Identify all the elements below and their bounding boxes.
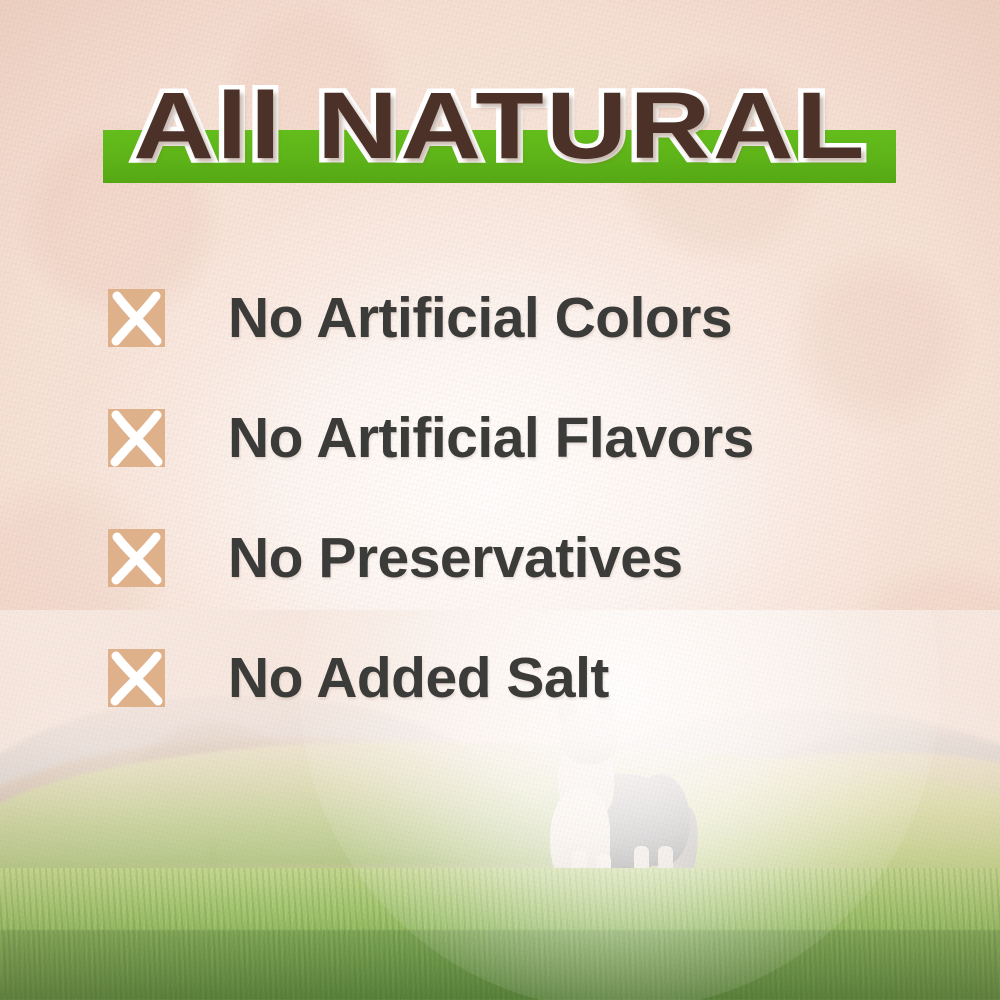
x-mark-icon	[108, 649, 165, 707]
claims-list: No Artificial Colors No Artificial Flavo…	[108, 258, 968, 738]
all-natural-product-badge: All NATURAL No Artificial Colors No Arti…	[0, 0, 1000, 1000]
x-mark-checkbox	[108, 529, 165, 587]
list-item: No Artificial Flavors	[108, 378, 968, 498]
list-item-label: No Artificial Colors	[228, 289, 732, 347]
list-item-label: No Added Salt	[228, 649, 609, 707]
x-mark-checkbox	[108, 409, 165, 467]
list-item-label: No Artificial Flavors	[228, 409, 754, 467]
list-item: No Added Salt	[108, 618, 968, 738]
x-mark-checkbox	[108, 289, 165, 347]
x-mark-icon	[108, 289, 165, 347]
list-item: No Artificial Colors	[108, 258, 968, 378]
x-mark-icon	[108, 529, 165, 587]
page-title: All NATURAL	[0, 74, 1000, 178]
x-mark-icon	[108, 409, 165, 467]
headline-block: All NATURAL	[0, 74, 1000, 186]
x-mark-checkbox	[108, 649, 165, 707]
list-item: No Preservatives	[108, 498, 968, 618]
list-item-label: No Preservatives	[228, 529, 683, 587]
